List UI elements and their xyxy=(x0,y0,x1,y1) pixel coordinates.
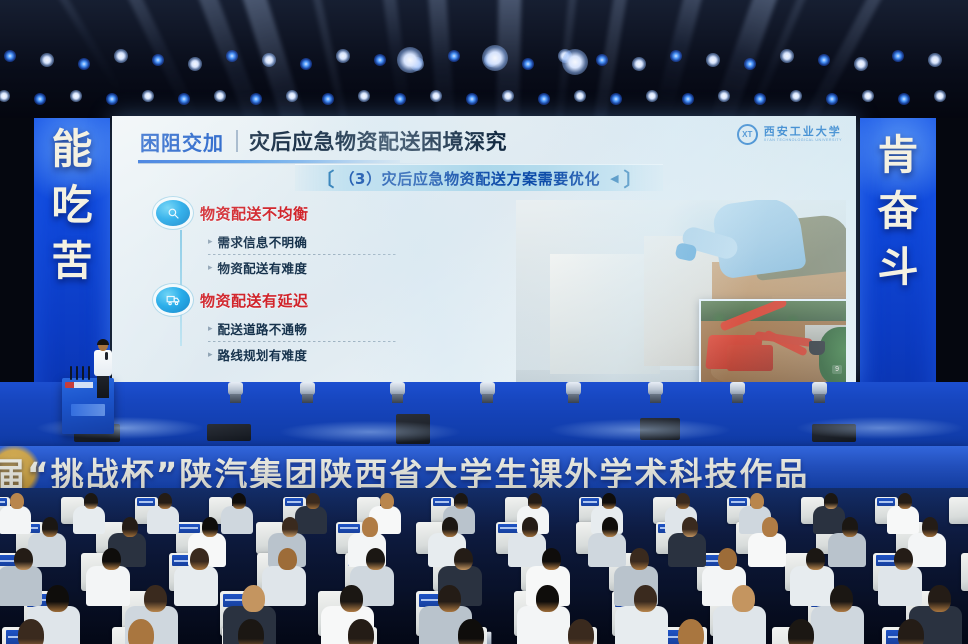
blue-par-light xyxy=(322,93,334,105)
left-pillar-text: 能 吃 苦 xyxy=(34,130,110,281)
moving-head-light xyxy=(730,382,745,404)
slide-subtitle-text: （3）灾后应急物资配送方案需要优化 xyxy=(339,168,600,189)
audience-member-head xyxy=(732,585,755,612)
attendee-name-card xyxy=(285,498,303,506)
audience-member-shoulders xyxy=(221,506,253,535)
bullet-group-title: 物资配送不均衡 xyxy=(200,203,309,224)
audience-member-shoulders xyxy=(262,566,306,606)
white-spot-light xyxy=(632,57,646,71)
bullet-list: ▸ 需求信息不明确 ▸ 物资配送有难度 xyxy=(208,231,456,278)
blue-par-light xyxy=(898,93,910,105)
audience-member-head xyxy=(46,585,69,612)
bullet-group-header: 物资配送不均衡 xyxy=(156,200,456,226)
right-pillar-char-3: 斗 xyxy=(878,248,919,287)
presenter-torso xyxy=(94,350,112,376)
left-dark-edge xyxy=(0,118,36,418)
moving-head-base xyxy=(392,394,403,403)
bullet-item: ▸ 需求信息不明确 xyxy=(208,231,456,252)
audience-member-head xyxy=(202,517,218,537)
audience-member-head xyxy=(278,548,297,571)
moving-head-light xyxy=(812,382,827,404)
moving-head-light xyxy=(390,382,405,404)
blue-par-light xyxy=(682,93,694,105)
moving-head-base xyxy=(814,394,825,403)
white-spot-light xyxy=(706,53,720,67)
audience-member-head xyxy=(678,619,704,644)
audience-member-shoulders xyxy=(813,506,845,535)
audience-member-shoulders xyxy=(615,606,668,644)
white-spot-light xyxy=(646,90,658,102)
audience-member-shoulders xyxy=(668,533,706,567)
bullet-group-title: 物资配送有延迟 xyxy=(200,290,309,311)
attendee-name-card xyxy=(178,524,200,533)
subtitle-right-bracket-icon: 〕 xyxy=(624,165,643,192)
white-spot-light xyxy=(114,49,128,63)
audience-member-shoulders xyxy=(811,606,864,644)
blue-par-light xyxy=(250,93,262,105)
moving-head-base xyxy=(482,394,493,403)
white-spot-light xyxy=(0,90,10,102)
left-pillar-char-2: 吃 xyxy=(52,186,93,225)
left-pillar-char-1: 能 xyxy=(52,130,93,169)
audience-member-head xyxy=(536,585,559,612)
audience-member-shoulders xyxy=(878,566,922,606)
audience-member-head xyxy=(718,548,737,571)
chevron-right-icon: ▸ xyxy=(208,262,213,273)
white-spot-light xyxy=(262,53,276,67)
water-bottle xyxy=(486,632,491,644)
university-name-cn: 西安工业大学 xyxy=(764,126,842,137)
audience-chair xyxy=(961,553,968,591)
audience-member-head xyxy=(568,619,594,644)
blue-par-light xyxy=(754,93,766,105)
audience-member-shoulders xyxy=(0,566,42,606)
audience-member-head xyxy=(442,517,458,537)
bullet-group: 物资配送不均衡 ▸ 需求信息不明确 ▸ 物资配送有难度 xyxy=(156,200,456,278)
audience-member-head xyxy=(922,517,938,537)
audience-member-head xyxy=(366,548,385,571)
blue-par-light xyxy=(152,54,164,66)
moving-head-base xyxy=(230,394,241,403)
audience-member-head xyxy=(894,548,913,571)
audience-member-head xyxy=(842,517,858,537)
right-dark-edge xyxy=(936,118,968,418)
slide-title: 灾后应急物资配送困境深究 xyxy=(249,126,507,156)
hero-spot-light xyxy=(397,47,423,73)
moving-head-light xyxy=(480,382,495,404)
right-led-pillar: 肯 奋 斗 xyxy=(860,118,936,418)
white-spot-light xyxy=(854,57,868,71)
white-spot-light xyxy=(188,57,202,71)
bullet-item: ▸ 配送道路不通畅 xyxy=(208,318,456,339)
bullet-text: 物资配送有难度 xyxy=(218,258,308,277)
microphone-stem xyxy=(88,366,90,380)
bullet-separator xyxy=(208,254,398,255)
slide-page-number: 9 xyxy=(832,365,842,374)
right-pillar-text: 肯 奋 斗 xyxy=(860,136,936,287)
blue-par-light xyxy=(34,93,46,105)
moving-head-light xyxy=(648,382,663,404)
delivery-truck-icon xyxy=(156,287,190,313)
audience-member-head xyxy=(762,517,778,537)
blue-par-light xyxy=(892,50,904,62)
audience-member-head xyxy=(528,493,542,510)
audience-member-head xyxy=(144,585,167,612)
microphone-stem xyxy=(70,366,72,380)
audience-member-head xyxy=(122,517,138,537)
audience-chair xyxy=(949,497,968,524)
blue-par-light xyxy=(538,93,550,105)
audience-member-head xyxy=(42,517,58,537)
blue-par-light xyxy=(394,93,406,105)
university-name-en: XI'AN TECHNOLOGICAL UNIVERSITY xyxy=(764,139,842,143)
attendee-name-card xyxy=(338,524,360,533)
hero-spot-light xyxy=(562,49,588,75)
attendee-name-card xyxy=(581,498,599,506)
chevron-right-icon: ▸ xyxy=(208,236,213,247)
audience-seating xyxy=(0,488,968,644)
microphone-stem xyxy=(76,366,78,380)
audience-member-head xyxy=(676,493,690,510)
audience-member-head xyxy=(634,585,657,612)
blue-par-light xyxy=(826,93,838,105)
lighting-truss xyxy=(0,0,968,118)
audience-member-head xyxy=(158,493,172,510)
audience-member-head xyxy=(830,585,853,612)
audience-member-shoulders xyxy=(147,506,179,535)
slide-body: 物资配送不均衡 ▸ 需求信息不明确 ▸ 物资配送有难度 xyxy=(112,196,856,382)
audience-member-head xyxy=(380,493,394,510)
attendee-name-card xyxy=(0,498,7,506)
university-emblem-icon: XT xyxy=(737,124,758,145)
moving-head-base xyxy=(302,394,313,403)
subtitle-left-bracket-icon: 〔 xyxy=(315,165,334,192)
audience-member-shoulders xyxy=(174,566,218,606)
microphone-stem xyxy=(82,366,84,380)
moving-head-base xyxy=(732,394,743,403)
blue-par-light xyxy=(78,58,90,70)
moving-head-light xyxy=(566,382,581,404)
moving-head-base xyxy=(568,394,579,403)
white-spot-light xyxy=(70,90,82,102)
audience-member-head xyxy=(928,585,951,612)
audience-member-head xyxy=(84,493,98,510)
audience-member-head xyxy=(454,493,468,510)
presenter-legs xyxy=(97,375,109,398)
bullet-list: ▸ 配送道路不通畅 ▸ 路线规划有难度 xyxy=(208,318,456,365)
university-name-block: 西安工业大学 XI'AN TECHNOLOGICAL UNIVERSITY xyxy=(764,126,842,143)
blue-par-light xyxy=(744,58,756,70)
white-spot-light xyxy=(780,49,794,63)
presenter-hair xyxy=(97,339,109,345)
audience-member-head xyxy=(458,619,484,644)
white-spot-light xyxy=(40,53,54,67)
audience-member-head xyxy=(750,493,764,510)
audience-member-shoulders xyxy=(828,533,866,567)
audience-member-head xyxy=(306,493,320,510)
blue-par-light xyxy=(818,54,830,66)
audience-member-shoulders xyxy=(0,506,31,535)
audience-member-head xyxy=(682,517,698,537)
blue-par-light xyxy=(4,50,16,62)
moving-head-base xyxy=(650,394,661,403)
attendee-name-card xyxy=(137,498,155,506)
audience-member-head xyxy=(14,548,33,571)
audience-member-head xyxy=(242,585,265,612)
blue-par-light xyxy=(610,93,622,105)
audience-member-head xyxy=(602,517,618,537)
flood-damaged-road-excavators xyxy=(699,299,846,382)
audience-member-shoulders xyxy=(748,533,786,567)
audience-member-head xyxy=(362,517,378,537)
stage-floor xyxy=(0,382,968,448)
audience-member-shoulders xyxy=(508,533,546,567)
white-spot-light xyxy=(574,90,586,102)
white-spot-light xyxy=(718,90,730,102)
audience-member-shoulders xyxy=(28,533,66,567)
blue-par-light xyxy=(300,58,312,70)
header-divider xyxy=(236,130,238,152)
audience-member-shoulders xyxy=(86,566,130,606)
attendee-name-card xyxy=(877,498,895,506)
chevron-right-icon: ▸ xyxy=(208,323,213,334)
attendee-name-card xyxy=(433,498,451,506)
slide-subtitle-banner: 〔 （3）灾后应急物资配送方案需要优化 ◀ 〕 xyxy=(295,164,663,191)
bullet-group-header: 物资配送有延迟 xyxy=(156,287,456,313)
audience-member-head xyxy=(454,548,473,571)
white-spot-light xyxy=(286,90,298,102)
bullet-text: 配送道路不通畅 xyxy=(218,319,308,338)
floor-monitor-speaker xyxy=(396,414,430,444)
relief-worker-loading-boxes xyxy=(516,200,846,382)
audience-member-head xyxy=(602,493,616,510)
university-logo: XT 西安工业大学 XI'AN TECHNOLOGICAL UNIVERSITY xyxy=(737,124,842,145)
moving-head-light xyxy=(300,382,315,404)
audience-member-shoulders xyxy=(713,606,766,644)
audience-member-head xyxy=(898,493,912,510)
projection-screen: 困阻交加 灾后应急物资配送困境深究 XT 西安工业大学 XI'AN TECHNO… xyxy=(112,116,856,382)
blue-par-light xyxy=(596,54,608,66)
audience-member-shoulders xyxy=(588,533,626,567)
hero-spot-light xyxy=(482,45,508,71)
floor-monitor-speaker xyxy=(207,424,251,441)
chevron-right-icon: ▸ xyxy=(208,349,213,360)
left-pillar-char-3: 苦 xyxy=(52,242,93,281)
white-spot-light xyxy=(142,90,154,102)
audience-member-shoulders xyxy=(908,533,946,567)
blue-par-light xyxy=(448,50,460,62)
bullet-group: 物资配送有延迟 ▸ 配送道路不通畅 ▸ 路线规划有难度 xyxy=(156,287,456,365)
podium-emblem xyxy=(71,404,105,416)
bullet-item: ▸ 物资配送有难度 xyxy=(208,257,456,278)
blue-par-light xyxy=(374,54,386,66)
audience-member-head xyxy=(806,548,825,571)
white-spot-light xyxy=(358,90,370,102)
audience-member-head xyxy=(824,493,838,510)
blue-par-light xyxy=(466,93,478,105)
presenter xyxy=(93,340,113,398)
right-pillar-char-1: 肯 xyxy=(878,136,919,175)
audience-member-head xyxy=(10,493,24,510)
attendee-name-card xyxy=(729,498,747,506)
inset-excavator xyxy=(727,345,773,371)
bullet-text: 需求信息不明确 xyxy=(218,232,308,251)
moving-head-light xyxy=(228,382,243,404)
subtitle-arrow-icon: ◀ xyxy=(610,172,618,185)
slide-header-tag: 困阻交加 xyxy=(140,127,224,156)
audience-member-shoulders xyxy=(790,566,834,606)
audience-member-head xyxy=(190,548,209,571)
audience-member-head xyxy=(542,548,561,571)
handheld-microphone-icon xyxy=(105,352,108,360)
search-analysis-icon xyxy=(156,200,190,226)
audience-member-head xyxy=(282,517,298,537)
audience-member-shoulders xyxy=(887,506,919,535)
bullet-item: ▸ 路线规划有难度 xyxy=(208,344,456,365)
blue-par-light xyxy=(226,50,238,62)
white-spot-light xyxy=(790,90,802,102)
floor-monitor-speaker xyxy=(812,424,856,442)
white-spot-light xyxy=(430,90,442,102)
white-spot-light xyxy=(336,49,350,63)
audience-member-head xyxy=(232,493,246,510)
blue-par-light xyxy=(106,93,118,105)
audience-member-shoulders xyxy=(73,506,105,535)
white-spot-light xyxy=(862,90,874,102)
bullet-text: 路线规划有难度 xyxy=(218,345,308,364)
blue-par-light xyxy=(522,58,534,70)
conference-stage-photo: 能 吃 苦 肯 奋 斗 困阻交加 灾后应急物资配送困境深究 XT 西安工业大学 … xyxy=(0,0,968,644)
bullet-separator xyxy=(208,341,398,342)
audience-member-head xyxy=(102,548,121,571)
audience-member-head xyxy=(522,517,538,537)
floor-monitor-speaker xyxy=(640,418,680,440)
inset-excavator-bucket xyxy=(809,341,825,355)
white-spot-light xyxy=(934,90,946,102)
white-spot-light xyxy=(214,90,226,102)
white-spot-light xyxy=(928,53,942,67)
light-beam xyxy=(41,0,126,96)
slide-bullet-column: 物资配送不均衡 ▸ 需求信息不明确 ▸ 物资配送有难度 xyxy=(156,200,456,374)
blue-par-light xyxy=(178,93,190,105)
audience-member-shoulders xyxy=(517,606,570,644)
blue-par-light xyxy=(670,50,682,62)
audience-member-head xyxy=(438,585,461,612)
audience-member-shoulders xyxy=(295,506,327,535)
audience-member-head xyxy=(340,585,363,612)
white-spot-light xyxy=(502,90,514,102)
right-pillar-char-2: 奋 xyxy=(878,192,919,231)
audience-member-head xyxy=(630,548,649,571)
